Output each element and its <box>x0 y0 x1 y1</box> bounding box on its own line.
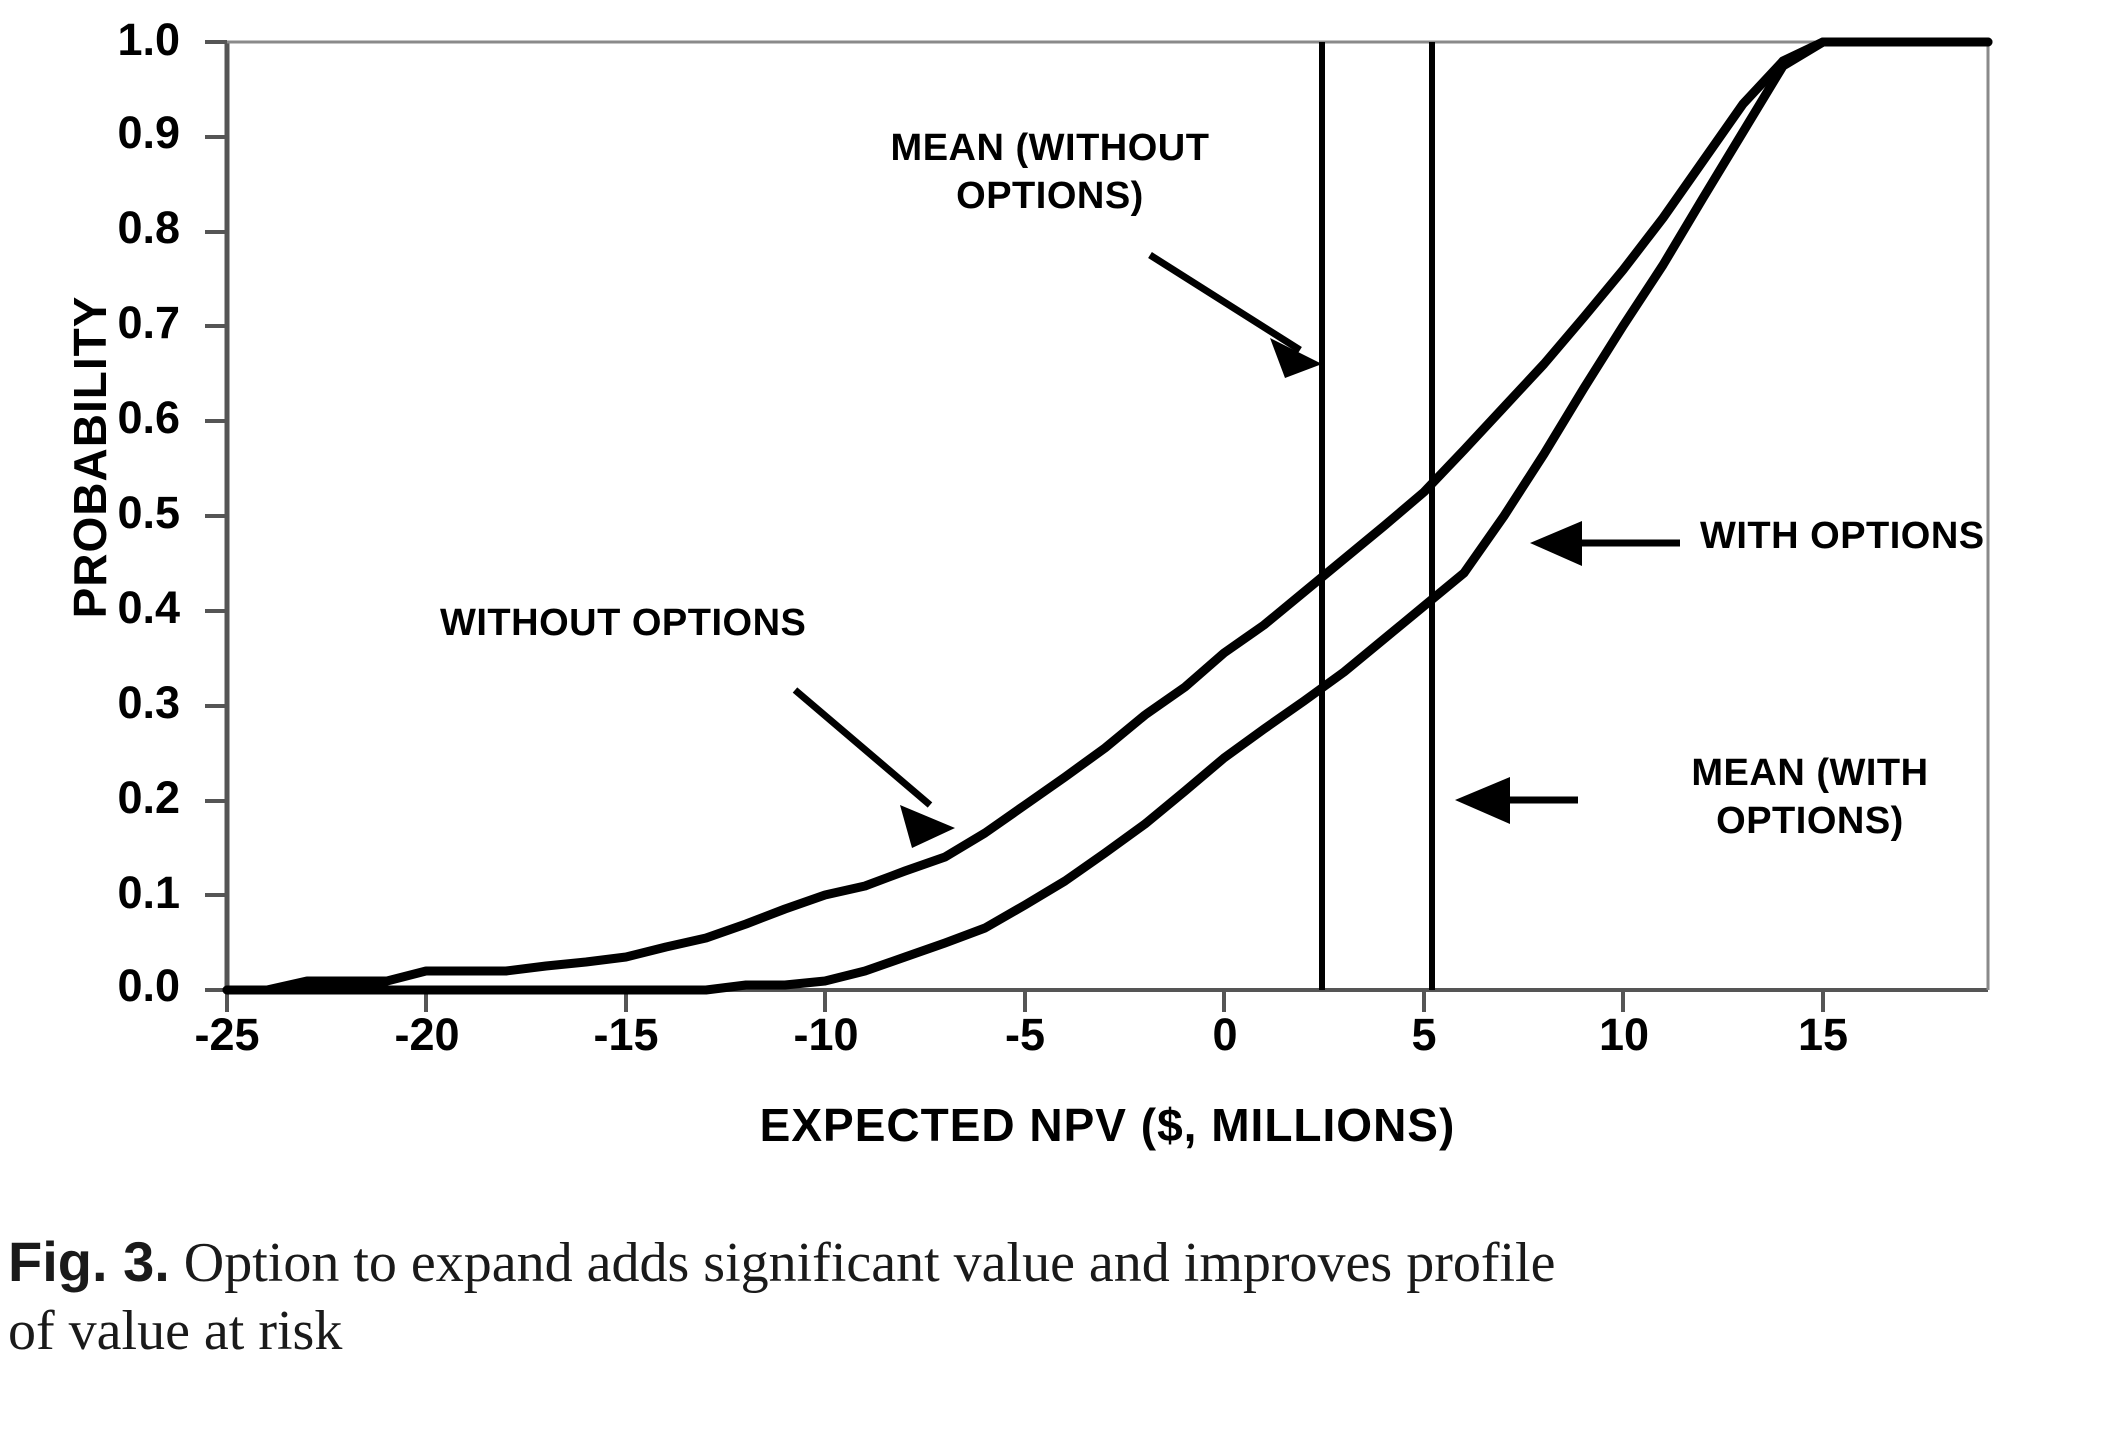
figure-caption: Fig. 3. Option to expand adds significan… <box>8 1228 2113 1366</box>
curve-with-options <box>227 42 1988 990</box>
caption-line-1: Option to expand adds significant value … <box>170 1232 1556 1294</box>
figure-3: PROBABILITY 1.0 0.9 0.8 0.7 0.6 0.5 0.4 … <box>0 0 2113 1456</box>
caption-line-2: of value at risk <box>8 1297 2113 1365</box>
arrow-with-options <box>1530 521 1680 566</box>
arrow-mean-without-options <box>1150 255 1322 378</box>
arrow-mean-with-options <box>1455 777 1578 824</box>
chart-area: PROBABILITY 1.0 0.9 0.8 0.7 0.6 0.5 0.4 … <box>0 0 2113 1200</box>
caption-label: Fig. 3. <box>8 1230 170 1293</box>
plot-canvas <box>0 0 2113 1200</box>
arrow-without-options <box>795 690 955 848</box>
y-tick-marks <box>205 42 227 990</box>
